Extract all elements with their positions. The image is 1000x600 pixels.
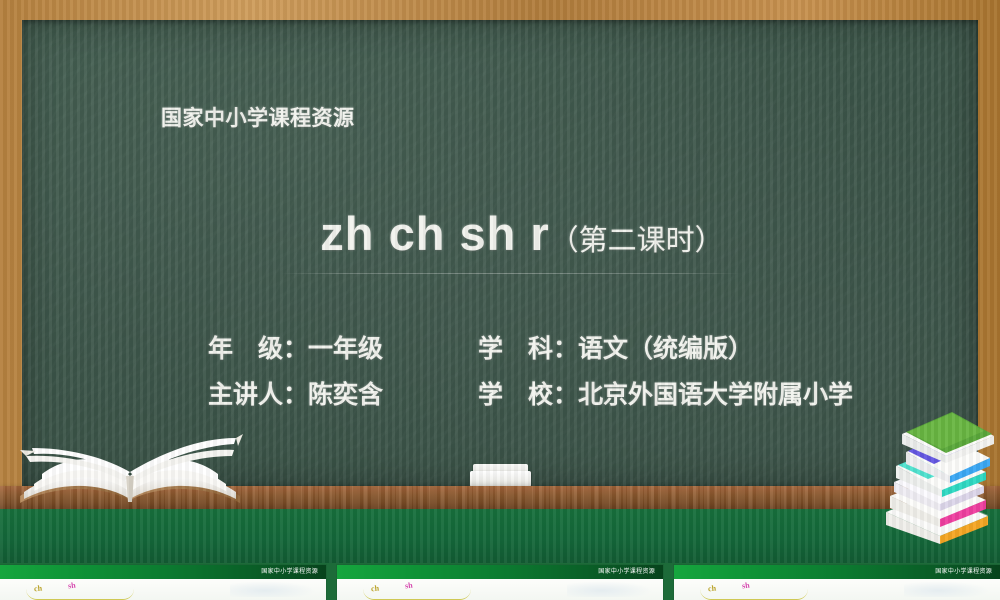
thumbnail-cloud-decoration-3 xyxy=(904,581,990,597)
thumbnail-slide-2[interactable]: 国家中小学课程资源 ch sh xyxy=(337,565,663,600)
chalkboard-eraser-icon xyxy=(470,464,531,487)
open-book-icon xyxy=(12,404,248,509)
thumbnail-header-bar-3: 国家中小学课程资源 xyxy=(674,565,1000,579)
slide-thumbnail-strip[interactable]: 国家中小学课程资源 ch sh 国家中小学课程资源 ch sh xyxy=(0,565,1000,600)
thumbnail-header-bar-2: 国家中小学课程资源 xyxy=(337,565,663,579)
thumbnail-pinyin-group-1: ch sh xyxy=(26,582,146,598)
thumbnail-header-bar-1: 国家中小学课程资源 xyxy=(0,565,326,579)
meta-grade: 年 级：一年级 xyxy=(208,326,478,372)
thumbnail-brand-label-2: 国家中小学课程资源 xyxy=(598,565,655,579)
meta-school: 学 校：北京外国语大学附属小学 xyxy=(478,372,908,418)
title-underline-chalk-rule xyxy=(280,273,742,274)
thumbnail-cloud-decoration-1 xyxy=(230,581,316,597)
title-suffix-text: （第二课时） xyxy=(550,223,724,257)
blackboard-wooden-frame: 国家中小学课程资源 zh ch sh r（第二课时） 年 级：一年级 学 科：语… xyxy=(0,0,1000,563)
thumbnail-arc-decoration-1 xyxy=(26,589,134,600)
slide-title: zh ch sh r（第二课时） xyxy=(44,206,1000,261)
meta-row-presenter: 主讲人：陈奕含 学 校：北京外国语大学附属小学 xyxy=(208,372,948,418)
thumbnail-brand-label-1: 国家中小学课程资源 xyxy=(261,565,318,579)
meta-presenter: 主讲人：陈奕含 xyxy=(208,372,478,418)
thumbnail-pinyin-group-3: ch sh xyxy=(700,582,820,598)
thumbnail-body-1: ch sh xyxy=(0,579,326,600)
slide-meta-block: 年 级：一年级 学 科：语文（统编版） 主讲人：陈奕含 学 校：北京外国语大学附… xyxy=(208,326,948,418)
thumbnail-body-3: ch sh xyxy=(674,579,1000,600)
thumbnail-body-2: ch sh xyxy=(337,579,663,600)
meta-row-grade: 年 级：一年级 学 科：语文（统编版） xyxy=(208,326,948,372)
slide-stage: 国家中小学课程资源 zh ch sh r（第二课时） 年 级：一年级 学 科：语… xyxy=(0,0,1000,600)
eraser-body xyxy=(470,471,531,487)
thumbnail-slide-3[interactable]: 国家中小学课程资源 ch sh xyxy=(674,565,1000,600)
thumbnail-slide-1[interactable]: 国家中小学课程资源 ch sh xyxy=(0,565,326,600)
brand-title: 国家中小学课程资源 xyxy=(161,102,355,132)
thumbnail-cloud-decoration-2 xyxy=(567,581,653,597)
thumbnail-arc-decoration-3 xyxy=(700,589,808,600)
green-base-panel xyxy=(0,509,1000,563)
thumbnail-pinyin-group-2: ch sh xyxy=(363,582,483,598)
thumbnail-arc-decoration-2 xyxy=(363,589,471,600)
meta-subject: 学 科：语文（统编版） xyxy=(478,326,908,372)
stacked-books-icon xyxy=(872,394,1000,544)
thumbnail-brand-label-3: 国家中小学课程资源 xyxy=(935,565,992,579)
title-main-text: zh ch sh r xyxy=(320,207,549,260)
